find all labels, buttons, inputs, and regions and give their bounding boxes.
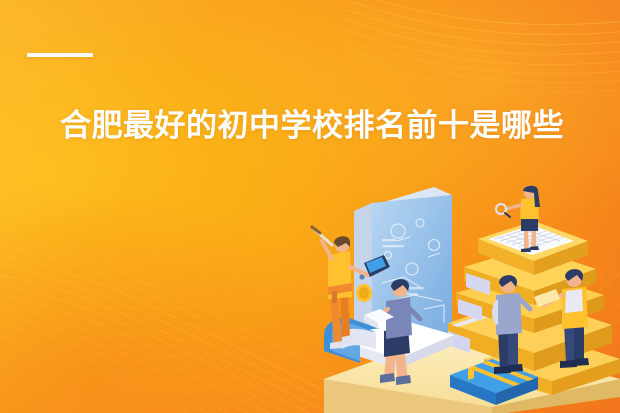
page-title: 合肥最好的初中学校排名前十是哪些 bbox=[60, 106, 564, 146]
coin-badge bbox=[356, 284, 372, 302]
isometric-education-illustration bbox=[302, 183, 620, 413]
title-accent-rule bbox=[27, 53, 93, 57]
stacked-gold-books bbox=[448, 221, 612, 371]
promo-banner: 合肥最好的初中学校排名前十是哪些 bbox=[0, 0, 620, 413]
flowing-lines-top-right-icon bbox=[346, 0, 620, 122]
